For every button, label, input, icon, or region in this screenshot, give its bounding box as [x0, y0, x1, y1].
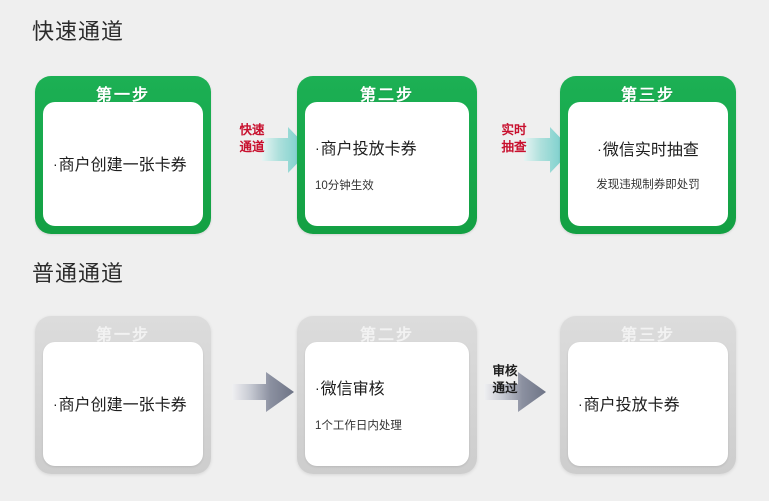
bullet-icon: ·	[315, 140, 320, 156]
bullet-icon: ·	[597, 141, 602, 157]
section-title-normal: 普通通道	[32, 256, 124, 288]
step-card-normal-1[interactable]: 第一步 ·商户创建一张卡券	[35, 316, 211, 474]
step-card-normal-3-main-text: 商户投放卡券	[584, 397, 680, 414]
step-card-fast-2-main-line: ·商户投放卡券	[315, 139, 459, 161]
step-card-normal-2[interactable]: 第二步 ·微信审核 1个工作日内处理	[297, 316, 477, 474]
bullet-icon: ·	[578, 396, 583, 412]
step-card-fast-1-main-line: ·商户创建一张卡券	[53, 155, 193, 177]
arrow-fast-1-label: 快速 通道	[232, 122, 272, 156]
step-card-normal-2-body: ·微信审核 1个工作日内处理	[305, 342, 469, 466]
step-card-fast-1-main-text: 商户创建一张卡券	[59, 157, 187, 174]
step-card-fast-3-main-line: ·微信实时抽查	[597, 140, 699, 162]
arrow-fast-2-label: 实时 抽查	[494, 122, 534, 156]
diagram-canvas: 快速通道 第一步 ·商户创建一张卡券 快速 通道 第二步	[0, 0, 769, 501]
bullet-icon: ·	[53, 156, 58, 172]
step-card-fast-3[interactable]: 第三步 ·微信实时抽查 发现违规制券即处罚	[560, 76, 736, 234]
arrow-normal-2-label-line2: 通过	[485, 380, 525, 397]
step-card-fast-1[interactable]: 第一步 ·商户创建一张卡券	[35, 76, 211, 234]
arrow-fast-1-label-line2: 通道	[232, 139, 272, 156]
bullet-icon: ·	[315, 380, 320, 396]
step-card-fast-1-body: ·商户创建一张卡券	[43, 102, 203, 226]
step-card-fast-2-body: ·商户投放卡券 10分钟生效	[305, 102, 469, 226]
step-card-normal-3[interactable]: 第三步 ·商户投放卡券	[560, 316, 736, 474]
step-card-normal-1-main-line: ·商户创建一张卡券	[53, 395, 193, 417]
step-card-normal-3-body: ·商户投放卡券	[568, 342, 728, 466]
section-title-fast: 快速通道	[32, 14, 124, 46]
step-card-normal-1-main-text: 商户创建一张卡券	[59, 397, 187, 414]
arrow-normal-2-label: 审核 通过	[485, 363, 525, 397]
step-card-normal-2-main-line: ·微信审核	[315, 379, 459, 401]
step-card-normal-3-main-line: ·商户投放卡券	[578, 395, 718, 417]
step-card-fast-3-body: ·微信实时抽查 发现违规制券即处罚	[568, 102, 728, 226]
arrow-normal-1	[232, 370, 294, 414]
step-card-normal-2-sub-text: 1个工作日内处理	[315, 417, 459, 433]
step-card-fast-2-main-text: 商户投放卡券	[321, 141, 417, 158]
arrow-fast-1-label-line1: 快速	[232, 122, 272, 139]
step-card-fast-2[interactable]: 第二步 ·商户投放卡券 10分钟生效	[297, 76, 477, 234]
arrow-normal-2-label-line1: 审核	[485, 363, 525, 380]
bullet-icon: ·	[53, 396, 58, 412]
step-card-fast-3-sub-text: 发现违规制券即处罚	[596, 176, 700, 192]
step-card-normal-1-body: ·商户创建一张卡券	[43, 342, 203, 466]
step-card-fast-2-sub-text: 10分钟生效	[315, 177, 459, 193]
step-card-normal-2-main-text: 微信审核	[321, 381, 385, 398]
arrow-fast-2-label-line1: 实时	[494, 122, 534, 139]
step-card-fast-3-main-text: 微信实时抽查	[603, 142, 699, 159]
arrow-fast-2-label-line2: 抽查	[494, 139, 534, 156]
